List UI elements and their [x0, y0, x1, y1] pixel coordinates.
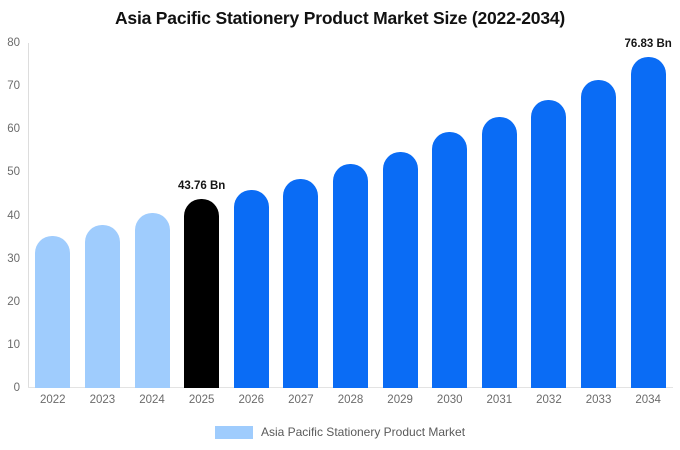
- x-axis-tick-label: 2030: [425, 394, 475, 406]
- bar-2034[interactable]: [631, 57, 666, 388]
- x-axis-tick-label: 2024: [127, 394, 177, 406]
- y-axis-tick-label: 30: [0, 253, 20, 265]
- bar-value-label: 43.76 Bn: [178, 180, 225, 192]
- x-axis-tick-label: 2028: [326, 394, 376, 406]
- y-axis-tick-label: 0: [0, 382, 20, 394]
- bar-value-label: 76.83 Bn: [625, 38, 672, 50]
- bar-2025[interactable]: [184, 199, 219, 388]
- y-axis-tick-label: 70: [0, 80, 20, 92]
- bar-slot: [333, 43, 368, 388]
- bar-slot: 76.83 Bn: [631, 43, 666, 388]
- y-axis-tick-label: 10: [0, 339, 20, 351]
- bar-2031[interactable]: [482, 117, 517, 388]
- plot-area: 43.76 Bn76.83 Bn: [28, 43, 673, 388]
- bar-slot: [135, 43, 170, 388]
- x-axis-tick-label: 2026: [226, 394, 276, 406]
- bar-slot: [482, 43, 517, 388]
- bar-2023[interactable]: [85, 225, 120, 388]
- x-axis-tick-label: 2023: [78, 394, 128, 406]
- chart-title: Asia Pacific Stationery Product Market S…: [0, 8, 680, 29]
- bars-layer: 43.76 Bn76.83 Bn: [28, 43, 673, 388]
- bar-2030[interactable]: [432, 132, 467, 388]
- x-axis-tick-label: 2032: [524, 394, 574, 406]
- bar-2022[interactable]: [35, 236, 70, 388]
- bar-slot: [581, 43, 616, 388]
- bar-2032[interactable]: [531, 100, 566, 388]
- x-axis-tick-label: 2027: [276, 394, 326, 406]
- legend-label[interactable]: Asia Pacific Stationery Product Market: [261, 425, 465, 439]
- x-axis-tick-label: 2029: [375, 394, 425, 406]
- y-axis-tick-label: 40: [0, 210, 20, 222]
- bar-2027[interactable]: [283, 179, 318, 388]
- bar-2033[interactable]: [581, 80, 616, 388]
- y-axis-tick-label: 20: [0, 296, 20, 308]
- bar-slot: [283, 43, 318, 388]
- legend-swatch: [215, 426, 253, 439]
- y-axis-tick-label: 80: [0, 37, 20, 49]
- bar-slot: [432, 43, 467, 388]
- y-axis-tick-label: 50: [0, 166, 20, 178]
- bar-slot: [234, 43, 269, 388]
- bar-2026[interactable]: [234, 190, 269, 388]
- x-axis-tick-label: 2033: [574, 394, 624, 406]
- bar-chart: Asia Pacific Stationery Product Market S…: [0, 0, 680, 450]
- bar-slot: [531, 43, 566, 388]
- bar-2024[interactable]: [135, 213, 170, 388]
- bar-slot: 43.76 Bn: [184, 43, 219, 388]
- x-axis-tick-label: 2031: [475, 394, 525, 406]
- bar-slot: [85, 43, 120, 388]
- bar-slot: [383, 43, 418, 388]
- x-axis-tick-label: 2025: [177, 394, 227, 406]
- bar-2029[interactable]: [383, 152, 418, 388]
- bar-slot: [35, 43, 70, 388]
- bar-2028[interactable]: [333, 164, 368, 388]
- y-axis-tick-label: 60: [0, 123, 20, 135]
- x-axis-tick-label: 2022: [28, 394, 78, 406]
- x-axis-tick-label: 2034: [623, 394, 673, 406]
- chart-legend: Asia Pacific Stationery Product Market: [0, 425, 680, 439]
